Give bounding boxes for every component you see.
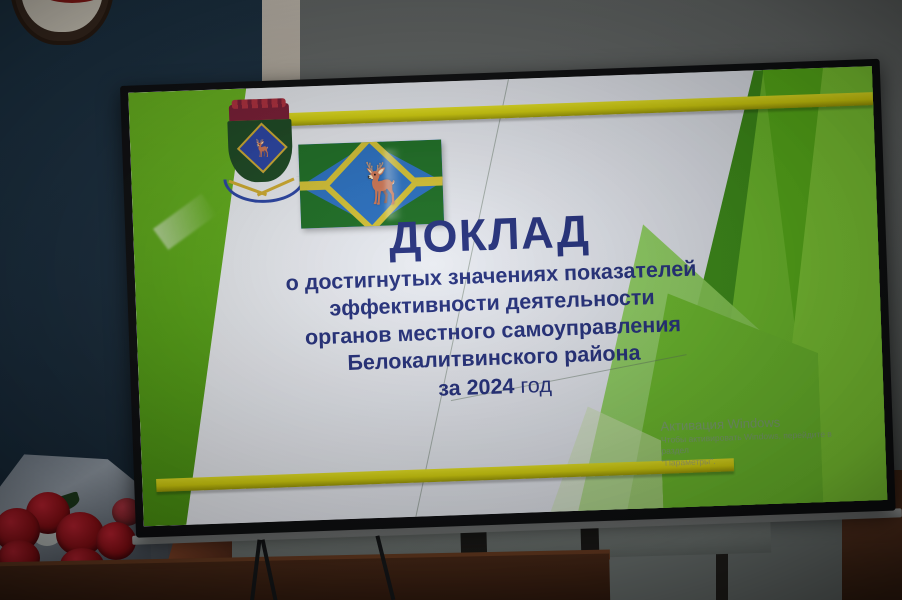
shield-icon: 🦌	[227, 119, 293, 183]
slide-text-block: ДОКЛАД о достигнутых значениях показател…	[229, 203, 755, 412]
television: 🦌	[120, 59, 896, 538]
deer-icon: 🦌	[252, 140, 269, 161]
wall-coat-of-arms-plaque	[10, 0, 114, 45]
slide-year-bold: за 2024	[438, 374, 515, 401]
rose-bloom	[96, 522, 136, 560]
presentation-slide: 🦌	[128, 66, 887, 526]
flag-sheen	[384, 149, 402, 220]
plaque-inner-field	[21, 0, 103, 32]
windows-activation-watermark: Активация Windows Чтобы активировать Win…	[660, 412, 842, 468]
slide-year-suffix: год	[520, 373, 552, 398]
plaque-shield	[10, 0, 114, 45]
ribbon-icon	[223, 176, 306, 204]
tv-screen: 🦌	[128, 66, 887, 526]
tv-bezel: 🦌	[120, 59, 896, 538]
photo-scene: 🦌	[0, 0, 902, 600]
deer-icon: 🦌	[357, 162, 387, 207]
plaque-ribbon	[35, 0, 109, 3]
slide-subtitle: о достигнутых значениях показателей эффе…	[231, 254, 755, 382]
coat-of-arms: 🦌	[221, 103, 301, 210]
